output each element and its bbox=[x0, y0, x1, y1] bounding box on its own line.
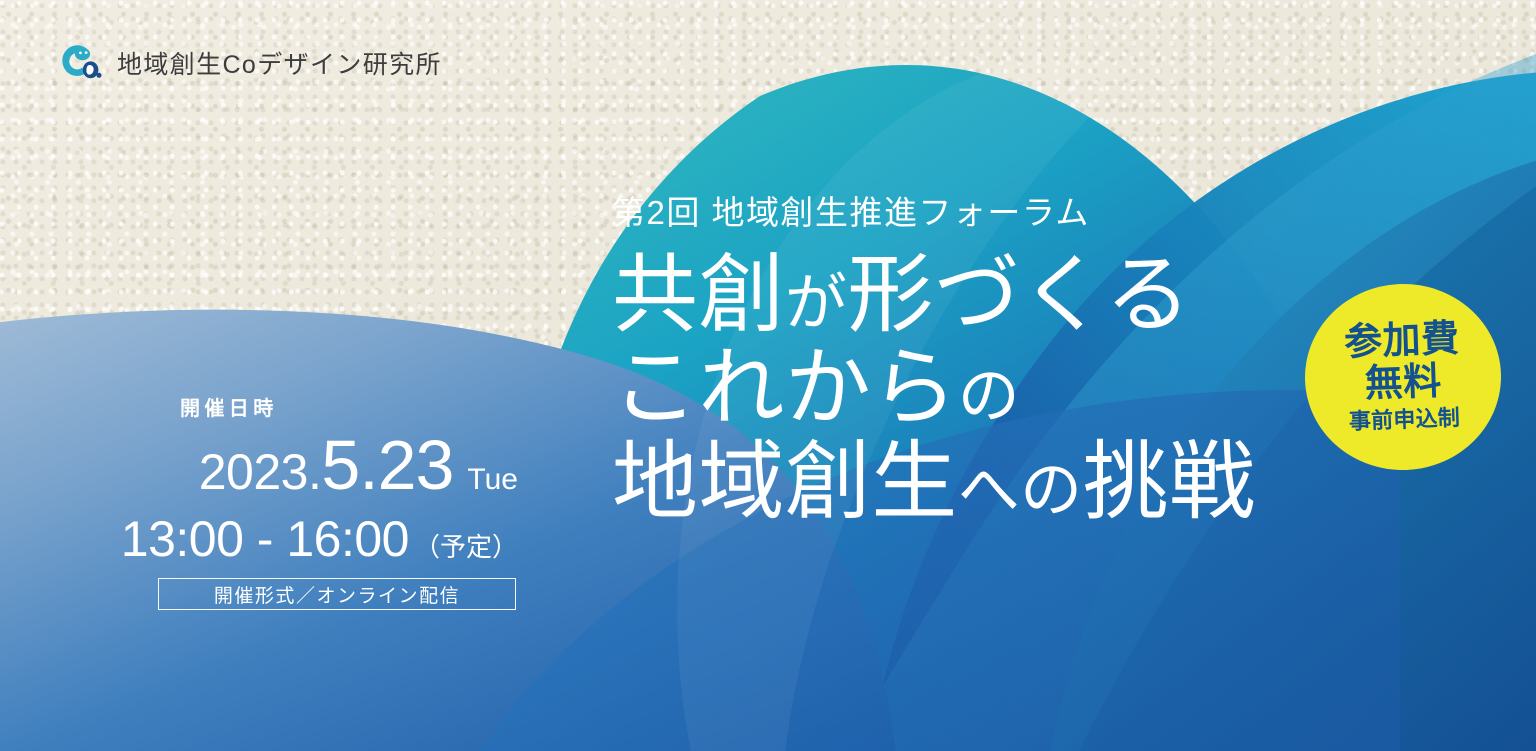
badge-line-1: 参加費 bbox=[1343, 319, 1460, 364]
headline-line3-part-b: への bbox=[958, 456, 1083, 525]
headline-line2-part-b: の bbox=[958, 362, 1020, 431]
event-time: 13:00 - 16:00 bbox=[121, 514, 409, 564]
event-format-box: 開催形式／オンライン配信 bbox=[158, 578, 516, 610]
headline-block: 第2回 地域創生推進フォーラム 共創が形づくる これからの 地域創生への挑戦 bbox=[612, 196, 1255, 527]
headline-line1-part-b: が bbox=[785, 269, 847, 338]
headline-line3-part-c: 挑戦 bbox=[1083, 434, 1256, 530]
headline-line1-part-a: 共創 bbox=[612, 247, 785, 343]
event-date-line: 2023. 5.23 Tue bbox=[158, 430, 518, 500]
event-weekday: Tue bbox=[467, 465, 518, 495]
site-logo[interactable]: 地域創生Coデザイン研究所 bbox=[56, 41, 442, 85]
headline-line-3: 地域創生への挑戦 bbox=[612, 438, 1255, 527]
logo-text: 地域創生Coデザイン研究所 bbox=[117, 45, 442, 81]
event-time-line: 13:00 - 16:00 （予定） bbox=[158, 514, 518, 564]
headline-line-2: これからの bbox=[612, 344, 1255, 433]
event-date-label: 開催日時 bbox=[180, 392, 518, 421]
badge-line-3: 事前申込制 bbox=[1349, 405, 1461, 435]
headline-line1-part-c: 形づくる bbox=[847, 247, 1191, 343]
headline-kicker: 第2回 地域創生推進フォーラム bbox=[612, 196, 1255, 229]
event-year: 2023. bbox=[199, 447, 322, 497]
event-format-text: 開催形式／オンライン配信 bbox=[214, 581, 460, 608]
event-time-note: （予定） bbox=[414, 534, 518, 560]
event-banner: 地域創生Coデザイン研究所 第2回 地域創生推進フォーラム 共創が形づくる これ… bbox=[0, 0, 1536, 751]
codesign-c-logo-icon bbox=[56, 41, 104, 85]
event-datetime-block: 開催日時 2023. 5.23 Tue 13:00 - 16:00 （予定） bbox=[158, 392, 518, 564]
headline-line2-part-a: これから bbox=[612, 340, 958, 436]
headline-line-1: 共創が形づくる bbox=[612, 251, 1255, 340]
headline-line3-part-a: 地域創生 bbox=[612, 434, 958, 530]
badge-line-2: 無料 bbox=[1364, 360, 1442, 405]
event-month-day: 5.23 bbox=[321, 430, 453, 500]
